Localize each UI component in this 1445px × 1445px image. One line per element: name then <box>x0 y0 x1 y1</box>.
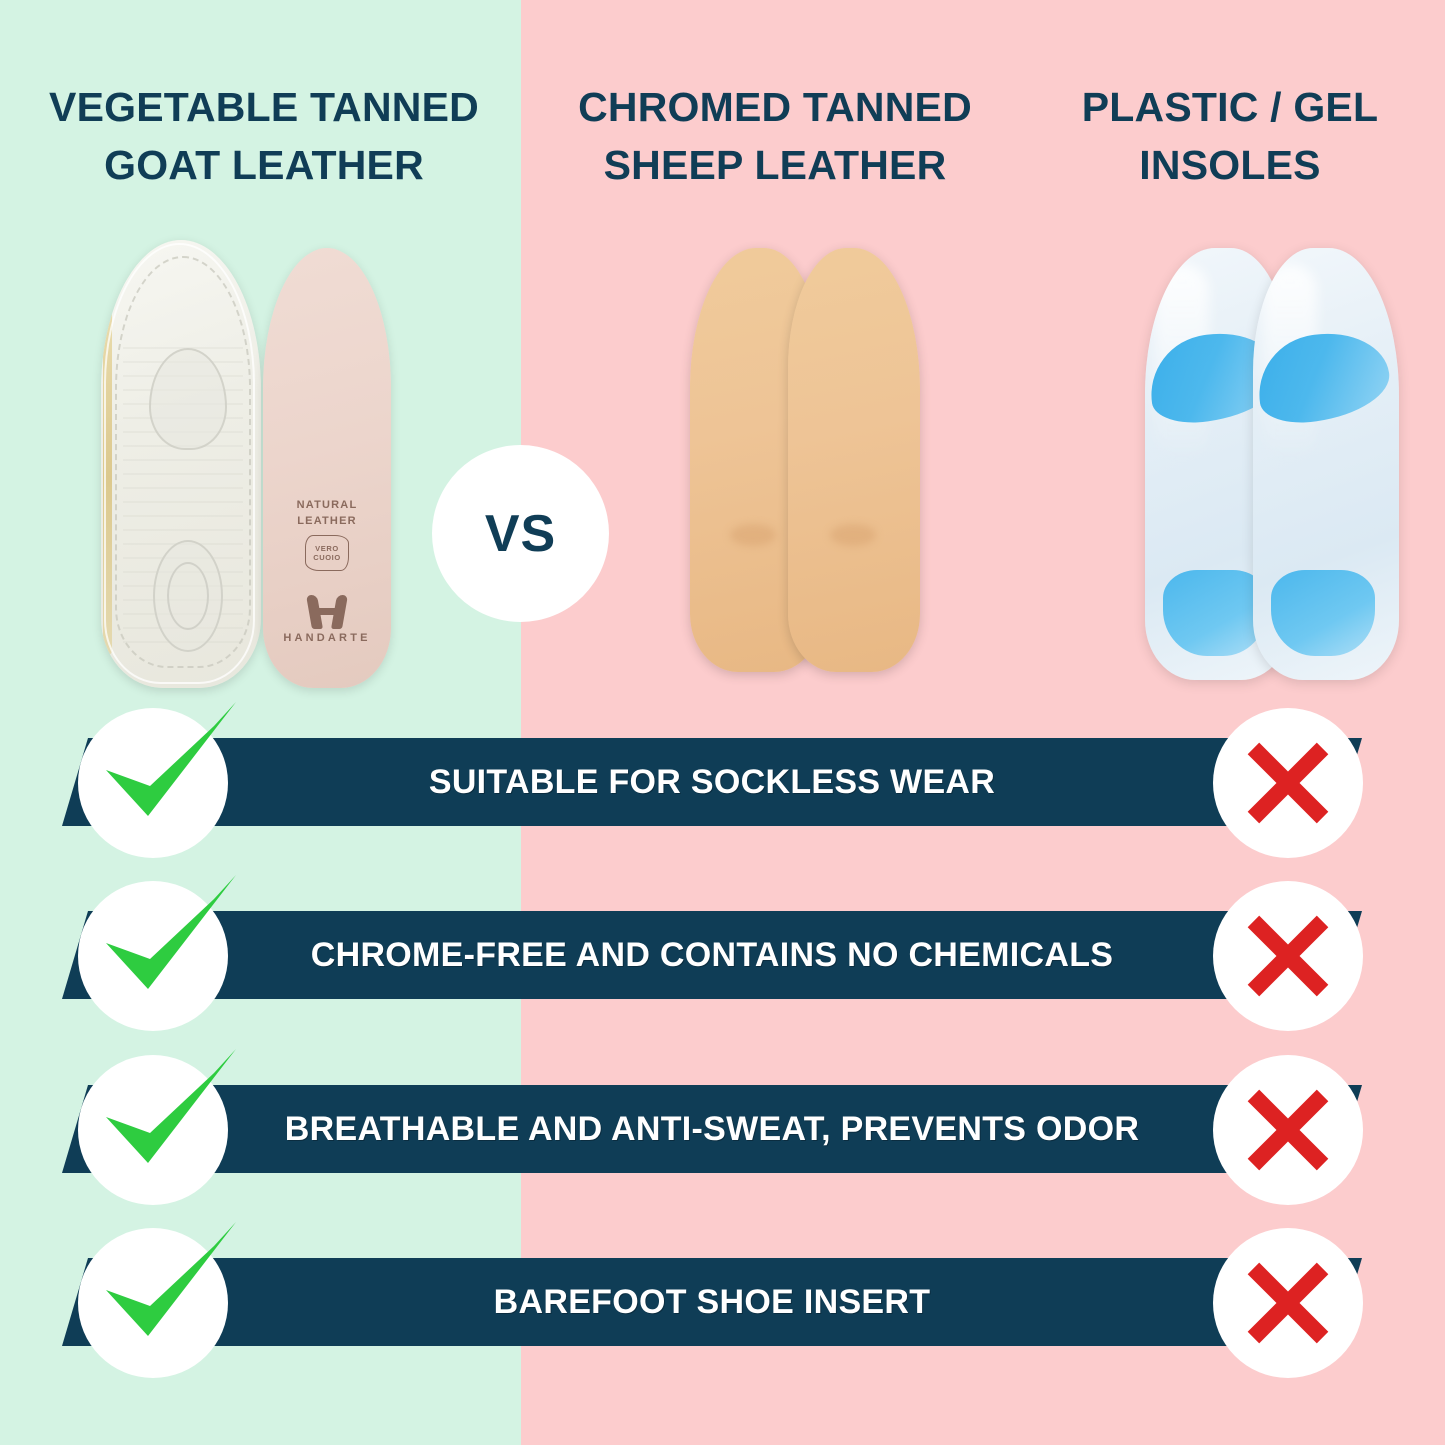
column-headings: VEGETABLE TANNED GOAT LEATHER CHROMED TA… <box>0 0 1445 215</box>
leather-smudge <box>730 524 776 546</box>
feature-cross-badge <box>1213 708 1363 858</box>
insole-stitch-outline <box>115 256 251 668</box>
vs-label: VS <box>485 504 556 564</box>
feature-check-badge <box>78 1055 228 1205</box>
check-icon <box>86 867 246 1017</box>
check-icon <box>86 1214 246 1364</box>
feature-check-badge <box>78 708 228 858</box>
insole-zigzag-texture <box>123 335 243 655</box>
feature-ribbon: SUITABLE FOR SOCKLESS WEAR <box>62 738 1362 826</box>
heading-plastic-gel: PLASTIC / GEL INSOLES <box>1030 78 1430 194</box>
gel-insole-right <box>1253 248 1399 680</box>
gel-heel-pad <box>1163 570 1267 656</box>
heading-line-2: SHEEP LEATHER <box>540 136 1010 194</box>
goat-leather-insole-photo: NATURAL LEATHER VERO CUOIO HANDARTE <box>95 240 385 695</box>
leather-smudge <box>830 524 876 546</box>
heading-line-2: GOAT LEATHER <box>14 136 514 194</box>
feature-ribbon: CHROME-FREE AND CONTAINS NO CHEMICALS <box>62 911 1362 999</box>
feature-cross-badge <box>1213 1228 1363 1378</box>
leather-stamp: NATURAL LEATHER VERO CUOIO HANDARTE <box>263 498 391 647</box>
heading-line-1: PLASTIC / GEL <box>1030 78 1430 136</box>
feature-label: SUITABLE FOR SOCKLESS WEAR <box>429 763 995 802</box>
check-icon <box>86 1041 246 1191</box>
cross-icon <box>1240 908 1336 1004</box>
cross-icon <box>1240 1255 1336 1351</box>
heading-line-1: CHROMED TANNED <box>540 78 1010 136</box>
gel-insole-photo <box>1145 248 1410 688</box>
feature-check-badge <box>78 881 228 1031</box>
heading-line-2: INSOLES <box>1030 136 1430 194</box>
badge-line-1: VERO <box>315 544 339 553</box>
stamp-line-1: NATURAL <box>263 498 391 514</box>
sheep-leather-insole-photo <box>690 248 930 678</box>
sheep-insole-right <box>788 248 920 672</box>
heading-line-1: VEGETABLE TANNED <box>14 78 514 136</box>
cross-icon <box>1240 1082 1336 1178</box>
stamp-line-2: LEATHER <box>263 514 391 530</box>
check-icon <box>86 694 246 844</box>
comparison-infographic: VEGETABLE TANNED GOAT LEATHER CHROMED TA… <box>0 0 1445 1445</box>
vs-badge: VS <box>432 445 609 622</box>
insole-gold-edge <box>103 300 112 655</box>
feature-check-badge <box>78 1228 228 1378</box>
insole-forefoot-pad <box>149 348 227 450</box>
gel-heel-pad <box>1271 570 1375 656</box>
cross-icon <box>1240 735 1336 831</box>
feature-label: BREATHABLE AND ANTI-SWEAT, PREVENTS ODOR <box>285 1110 1139 1149</box>
insole-heel-pad-inner <box>167 562 209 630</box>
brand-name: HANDARTE <box>263 631 391 647</box>
vero-cuoio-badge: VERO CUOIO <box>305 535 349 571</box>
insole-heel-pad <box>153 540 223 652</box>
heading-chromed-tanned-sheep: CHROMED TANNED SHEEP LEATHER <box>540 78 1010 194</box>
goat-insole-topside: NATURAL LEATHER VERO CUOIO HANDARTE <box>263 248 391 688</box>
handarte-h-logo <box>309 595 345 629</box>
feature-cross-badge <box>1213 1055 1363 1205</box>
feature-label: BAREFOOT SHOE INSERT <box>494 1283 931 1322</box>
feature-label: CHROME-FREE AND CONTAINS NO CHEMICALS <box>311 936 1114 975</box>
feature-row-4: BAREFOOT SHOE INSERT <box>0 1240 1445 1420</box>
badge-line-2: CUOIO <box>313 553 341 562</box>
goat-insole-underside <box>101 240 261 688</box>
feature-ribbon: BREATHABLE AND ANTI-SWEAT, PREVENTS ODOR <box>62 1085 1362 1173</box>
heading-vegetable-tanned-goat: VEGETABLE TANNED GOAT LEATHER <box>14 78 514 194</box>
feature-cross-badge <box>1213 881 1363 1031</box>
feature-ribbon: BAREFOOT SHOE INSERT <box>62 1258 1362 1346</box>
